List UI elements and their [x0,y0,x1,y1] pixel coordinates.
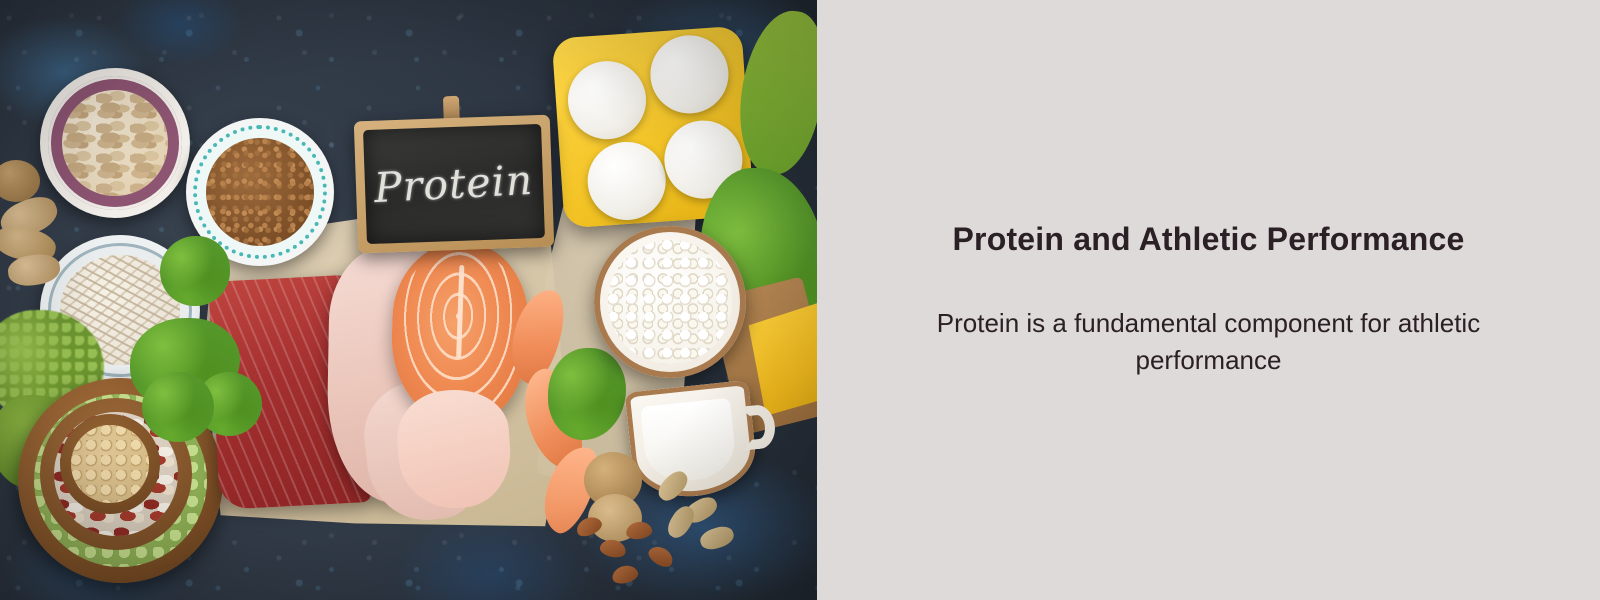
egg-2 [648,33,731,116]
chalkboard-sign: Protein [354,115,554,254]
rolled-oats [62,90,168,196]
text-panel: Protein and Athletic Performance Protein… [817,0,1600,600]
cottage-cheese-curds [608,240,732,364]
egg-1 [565,59,648,142]
chalkboard-surface: Protein [363,124,545,244]
buckwheat-groats [206,138,314,246]
chalkboard-text: Protein [373,156,534,212]
cottage-cheese-bowl [594,226,746,378]
chickpeas [71,425,149,503]
protein-banner: Protein Protein and Athletic Performance… [0,0,1600,600]
page-subtitle: Protein is a fundamental component for a… [909,305,1509,380]
egg-3 [585,139,668,222]
page-title: Protein and Athletic Performance [953,220,1465,258]
food-photo: Protein [0,0,817,600]
parsley-sprig-bottom-left [142,372,214,442]
oats-bowl [40,68,190,218]
salmon-spine [456,265,464,359]
milk [640,398,738,485]
wooden-bowl-chickpeas [60,414,160,514]
parsley-sprig-left [160,236,230,306]
